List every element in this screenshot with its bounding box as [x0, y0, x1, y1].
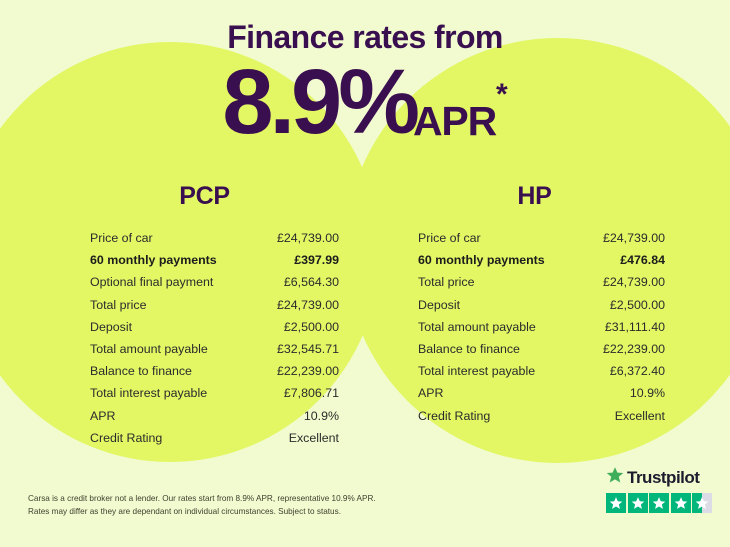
star-icon — [606, 466, 624, 489]
row-value: Excellent — [289, 431, 339, 445]
row-label: APR — [90, 409, 115, 423]
headline-rate: 8.9% APR * — [0, 59, 730, 146]
row-value: 10.9% — [630, 386, 665, 400]
table-row: Balance to finance £22,239.00 — [90, 360, 339, 382]
row-value: £31,111.40 — [605, 320, 665, 334]
row-label: Total amount payable — [418, 320, 536, 334]
plan-rows-pcp: Price of car £24,739.00 60 monthly payme… — [62, 227, 347, 449]
trustpilot-brand: Trustpilot — [606, 466, 718, 489]
row-label: Optional final payment — [90, 275, 213, 289]
page-title: Finance rates from — [0, 20, 730, 55]
row-label: Balance to finance — [90, 364, 192, 378]
table-row: Total interest payable £6,372.40 — [418, 360, 665, 382]
row-value: £24,739.00 — [277, 298, 339, 312]
row-label: Credit Rating — [90, 431, 162, 445]
plan-card-pcp: PCP Price of car £24,739.00 60 monthly p… — [62, 182, 347, 449]
banner-header: Finance rates from 8.9% APR * — [0, 0, 730, 146]
disclaimer-line-2: Rates may differ as they are dependant o… — [28, 505, 468, 518]
table-row: Price of car £24,739.00 — [90, 227, 339, 249]
rating-star-2 — [628, 493, 648, 513]
row-value: £22,239.00 — [603, 342, 665, 356]
legal-disclaimer: Carsa is a credit broker not a lender. O… — [28, 492, 468, 519]
row-label: Total amount payable — [90, 342, 208, 356]
row-label: 60 monthly payments — [90, 253, 217, 267]
plan-card-hp: HP Price of car £24,739.00 60 monthly pa… — [392, 182, 677, 427]
row-value: Excellent — [615, 409, 665, 423]
row-value: £6,372.40 — [610, 364, 665, 378]
row-label: Credit Rating — [418, 409, 490, 423]
table-row: 60 monthly payments £397.99 — [90, 249, 339, 271]
table-row: 60 monthly payments £476.84 — [418, 249, 665, 271]
trustpilot-rating[interactable]: Trustpilot — [606, 466, 718, 513]
row-label: Deposit — [90, 320, 132, 334]
row-value: £6,564.30 — [284, 275, 339, 289]
row-value: £7,806.71 — [284, 386, 339, 400]
trustpilot-wordmark: Trustpilot — [627, 468, 699, 488]
table-row: Total amount payable £32,545.71 — [90, 338, 339, 360]
row-value: £22,239.00 — [277, 364, 339, 378]
row-label: 60 monthly payments — [418, 253, 545, 267]
rate-unit: APR — [413, 102, 496, 146]
table-row: Total price £24,739.00 — [90, 294, 339, 316]
row-label: Deposit — [418, 298, 460, 312]
table-row: Credit Rating Excellent — [90, 427, 339, 449]
row-value: £32,545.71 — [277, 342, 339, 356]
table-row: Deposit £2,500.00 — [90, 316, 339, 338]
table-row: APR 10.9% — [418, 382, 665, 404]
rating-star-4 — [671, 493, 691, 513]
rate-value: 8.9% — [222, 59, 416, 146]
row-value: £24,739.00 — [603, 275, 665, 289]
row-label: Total price — [90, 298, 146, 312]
rating-star-1 — [606, 493, 626, 513]
row-value: £397.99 — [294, 253, 339, 267]
row-value: £2,500.00 — [610, 298, 665, 312]
trustpilot-stars — [606, 493, 718, 513]
row-value: £2,500.00 — [284, 320, 339, 334]
plan-heading-pcp: PCP — [62, 182, 347, 211]
table-row: Credit Rating Excellent — [418, 405, 665, 427]
asterisk-mark: * — [496, 59, 508, 110]
row-label: Total price — [418, 275, 474, 289]
row-label: Balance to finance — [418, 342, 520, 356]
row-value: £476.84 — [620, 253, 665, 267]
disclaimer-line-1: Carsa is a credit broker not a lender. O… — [28, 492, 468, 505]
table-row: Price of car £24,739.00 — [418, 227, 665, 249]
table-row: Total interest payable £7,806.71 — [90, 382, 339, 404]
table-row: APR 10.9% — [90, 405, 339, 427]
row-value: £24,739.00 — [603, 231, 665, 245]
table-row: Total price £24,739.00 — [418, 271, 665, 293]
rating-star-3 — [649, 493, 669, 513]
plan-heading-hp: HP — [392, 182, 677, 211]
finance-rates-banner: Finance rates from 8.9% APR * PCP Price … — [0, 0, 730, 547]
row-label: Total interest payable — [418, 364, 535, 378]
row-label: Price of car — [418, 231, 481, 245]
row-value: 10.9% — [304, 409, 339, 423]
row-value: £24,739.00 — [277, 231, 339, 245]
table-row: Optional final payment £6,564.30 — [90, 271, 339, 293]
row-label: Price of car — [90, 231, 153, 245]
table-row: Balance to finance £22,239.00 — [418, 338, 665, 360]
table-row: Total amount payable £31,111.40 — [418, 316, 665, 338]
plan-rows-hp: Price of car £24,739.00 60 monthly payme… — [392, 227, 677, 427]
row-label: APR — [418, 386, 443, 400]
rating-star-5-half — [692, 493, 712, 513]
table-row: Deposit £2,500.00 — [418, 294, 665, 316]
row-label: Total interest payable — [90, 386, 207, 400]
